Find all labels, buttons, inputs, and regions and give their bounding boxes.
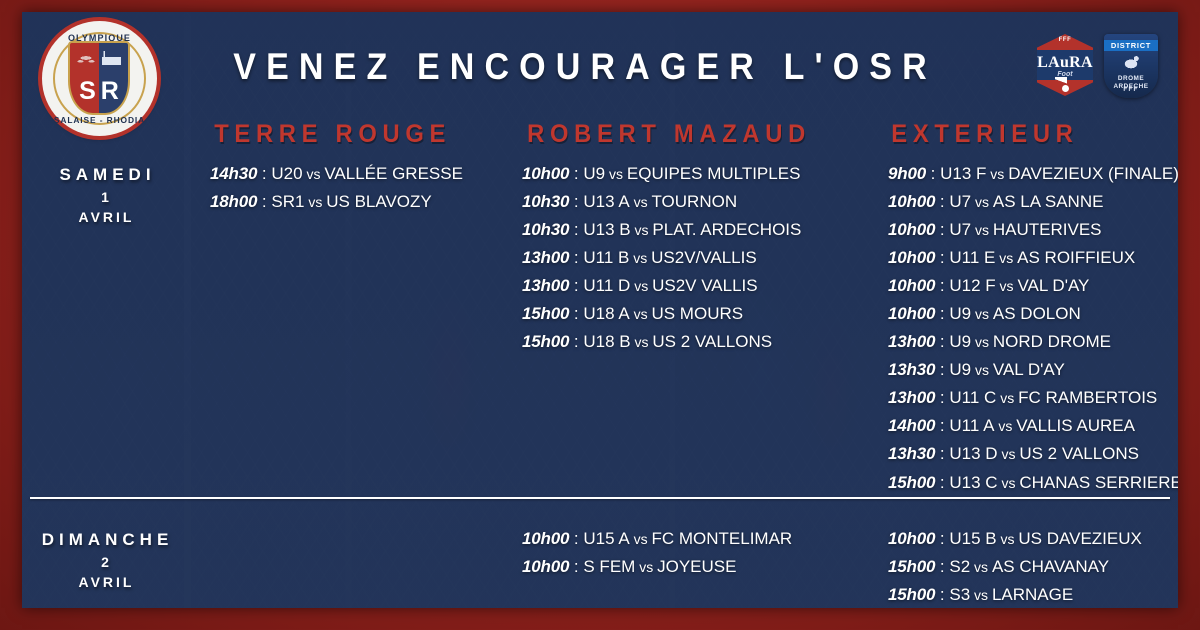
match-time: 13h30 [888, 444, 935, 463]
match-away-team: AS ROIFFIEUX [1017, 248, 1135, 267]
match-vs-label: vs [998, 446, 1020, 462]
match-time: 15h00 [888, 557, 935, 576]
day-number: 1 [30, 187, 180, 208]
match-away-team: VAL D'AY [993, 360, 1065, 379]
match-separator: : [569, 192, 583, 211]
match-vs-label: vs [630, 306, 652, 322]
match-time: 10h00 [888, 529, 935, 548]
match-separator: : [935, 360, 949, 379]
match-time: 10h30 [522, 192, 569, 211]
match-time: 13h00 [888, 388, 935, 407]
match-vs-label: vs [971, 222, 993, 238]
match-time: 13h00 [888, 332, 935, 351]
matches-dimanche-exterieur: 10h00 : U15 B vs US DAVEZIEUX15h00 : S2 … [840, 521, 1170, 608]
matches-dimanche-terre-rouge [180, 521, 510, 608]
venue-header-row: TERRE ROUGE ROBERT MAZAUD EXTERIEUR [22, 112, 1178, 156]
venue-title: ROBERT MAZAUD [510, 122, 824, 147]
match-time: 14h00 [888, 416, 935, 435]
club-crest-logo: OLYMPIQUE SR SALAISE - RHODIA [42, 21, 157, 136]
match-separator: : [257, 192, 271, 211]
district-band-text: DISTRICT [1104, 42, 1158, 50]
match-vs-label: vs [970, 587, 992, 603]
match-row: 15h00 : S3 vs LARNAGE [888, 581, 1170, 608]
poster-header: OLYMPIQUE SR SALAISE - RHODIA VENEZ ENCO… [22, 12, 1178, 112]
match-vs-label: vs [998, 475, 1020, 491]
rooster-icon [1120, 54, 1142, 72]
match-row: 15h00 : U13 C vs CHANAS SERRIERES [888, 469, 1170, 497]
match-separator: : [569, 220, 583, 239]
match-vs-label: vs [971, 362, 993, 378]
match-row: 10h00 : U9 vs AS DOLON [888, 300, 1170, 328]
match-separator: : [935, 276, 949, 295]
district-logo: DISTRICT DROME ARDECHE FFF [1104, 34, 1158, 98]
crest-club-name-bottom: SALAISE - RHODIA [42, 116, 157, 124]
match-vs-label: vs [995, 250, 1017, 266]
match-time: 10h00 [888, 304, 935, 323]
match-time: 14h30 [210, 164, 257, 183]
match-time: 15h00 [522, 304, 569, 323]
match-away-team: AS LA SANNE [993, 192, 1104, 211]
day-label-samedi: SAMEDI 1 AVRIL [30, 156, 180, 497]
match-away-team: PLAT. ARDECHOIS [652, 220, 801, 239]
match-vs-label: vs [304, 194, 326, 210]
match-row: 14h00 : U11 A vs VALLIS AUREA [888, 412, 1170, 440]
crest-factory-icon [102, 51, 121, 65]
day-month: AVRIL [30, 573, 180, 591]
match-time: 10h00 [888, 192, 935, 211]
match-separator: : [569, 164, 583, 183]
match-away-team: US DAVEZIEUX [1018, 529, 1141, 548]
match-home-team: U13 B [583, 220, 630, 239]
laura-fff-text: FFF [1037, 37, 1093, 43]
match-home-team: U13 C [949, 473, 997, 492]
match-time: 10h00 [522, 164, 569, 183]
laura-name-text: LAuRA [1037, 55, 1093, 71]
match-vs-label: vs [630, 278, 652, 294]
crest-bird-icon [76, 52, 96, 64]
match-home-team: U12 F [949, 276, 995, 295]
match-away-team: CHANAS SERRIERES [1019, 473, 1178, 492]
crest-initials: SR [70, 79, 128, 104]
match-separator: : [935, 416, 949, 435]
match-vs-label: vs [635, 559, 657, 575]
match-separator: : [935, 332, 949, 351]
match-time: 10h00 [888, 248, 935, 267]
match-separator: : [935, 529, 949, 548]
match-separator: : [569, 529, 583, 548]
match-vs-label: vs [631, 334, 653, 350]
match-vs-label: vs [303, 166, 325, 182]
match-home-team: S2 [949, 557, 970, 576]
match-home-team: SR1 [271, 192, 304, 211]
match-time: 9h00 [888, 164, 926, 183]
match-vs-label: vs [996, 278, 1018, 294]
match-vs-label: vs [971, 334, 993, 350]
venue-title: EXTERIEUR [840, 122, 1154, 147]
match-separator: : [935, 444, 949, 463]
match-separator: : [569, 304, 583, 323]
match-home-team: U7 [949, 220, 971, 239]
match-home-team: U15 A [583, 529, 629, 548]
match-away-team: VAL D'AY [1017, 276, 1089, 295]
match-separator: : [935, 557, 949, 576]
match-row: 13h00 : U11 B vs US2V/VALLIS [522, 244, 840, 272]
match-row: 13h30 : U13 D vs US 2 VALLONS [888, 440, 1170, 468]
match-away-team: HAUTERIVES [993, 220, 1102, 239]
match-away-team: FC MONTELIMAR [651, 529, 792, 548]
match-vs-label: vs [997, 531, 1019, 547]
match-vs-label: vs [986, 166, 1008, 182]
match-row: 18h00 : SR1 vs US BLAVOZY [210, 188, 510, 216]
match-row: 13h30 : U9 vs VAL D'AY [888, 356, 1170, 384]
match-vs-label: vs [605, 166, 627, 182]
match-home-team: U13 A [583, 192, 629, 211]
match-home-team: U9 [949, 332, 971, 351]
match-vs-label: vs [996, 390, 1018, 406]
poster: OLYMPIQUE SR SALAISE - RHODIA VENEZ ENCO… [0, 0, 1200, 630]
match-separator: : [257, 164, 271, 183]
venue-header-robert-mazaud: ROBERT MAZAUD [510, 122, 840, 147]
matches-samedi-exterieur: 9h00 : U13 F vs DAVEZIEUX (FINALE)10h00 … [840, 156, 1170, 497]
match-row: 13h00 : U11 C vs FC RAMBERTOIS [888, 384, 1170, 412]
match-away-team: LARNAGE [992, 585, 1073, 604]
match-row: 10h30 : U13 B vs PLAT. ARDECHOIS [522, 216, 840, 244]
match-home-team: U18 B [583, 332, 630, 351]
venue-header-terre-rouge: TERRE ROUGE [180, 122, 510, 147]
day-label-dimanche: DIMANCHE 2 AVRIL [30, 521, 180, 608]
match-row: 10h00 : U12 F vs VAL D'AY [888, 272, 1170, 300]
match-home-team: U11 E [949, 248, 995, 267]
match-separator: : [935, 585, 949, 604]
match-home-team: U20 [271, 164, 302, 183]
match-home-team: U18 A [583, 304, 629, 323]
matches-samedi-robert-mazaud: 10h00 : U9 vs EQUIPES MULTIPLES10h30 : U… [510, 156, 840, 497]
match-separator: : [935, 192, 949, 211]
day-block-samedi: SAMEDI 1 AVRIL 14h30 : U20 vs VALLÉE GRE… [22, 156, 1178, 497]
match-home-team: U11 D [583, 276, 630, 295]
match-home-team: U9 [583, 164, 605, 183]
match-vs-label: vs [630, 531, 652, 547]
match-home-team: U13 D [949, 444, 997, 463]
match-away-team: VALLÉE GRESSE [324, 164, 463, 183]
match-vs-label: vs [970, 559, 992, 575]
match-vs-label: vs [629, 250, 651, 266]
match-vs-label: vs [971, 306, 993, 322]
match-row: 10h30 : U13 A vs TOURNON [522, 188, 840, 216]
laura-foot-logo: FFF LAuRA Foot [1037, 34, 1093, 96]
match-row: 15h00 : S2 vs AS CHAVANAY [888, 553, 1170, 581]
district-fff-text: FFF [1104, 87, 1158, 93]
match-separator: : [569, 557, 583, 576]
day-name: SAMEDI [30, 164, 180, 187]
match-away-team: US 2 VALLONS [1019, 444, 1139, 463]
match-home-team: S FEM [583, 557, 635, 576]
match-home-team: U9 [949, 360, 971, 379]
page-title: VENEZ ENCOURAGER L'OSR [205, 48, 956, 85]
crest-shield: SR [68, 41, 130, 115]
match-away-team: TOURNON [651, 192, 737, 211]
match-time: 18h00 [210, 192, 257, 211]
match-separator: : [935, 304, 949, 323]
match-home-team: U13 F [940, 164, 986, 183]
match-time: 13h00 [522, 248, 569, 267]
match-away-team: US BLAVOZY [326, 192, 432, 211]
match-separator: : [935, 473, 949, 492]
match-home-team: U11 C [949, 388, 996, 407]
poster-panel: OLYMPIQUE SR SALAISE - RHODIA VENEZ ENCO… [22, 12, 1178, 608]
match-separator: : [569, 248, 583, 267]
match-vs-label: vs [631, 222, 653, 238]
match-time: 13h00 [522, 276, 569, 295]
match-row: 10h00 : U11 E vs AS ROIFFIEUX [888, 244, 1170, 272]
match-row: 10h00 : U7 vs AS LA SANNE [888, 188, 1170, 216]
match-time: 10h00 [522, 529, 569, 548]
match-vs-label: vs [630, 194, 652, 210]
match-home-team: U9 [949, 304, 971, 323]
match-time: 10h00 [522, 557, 569, 576]
match-separator: : [569, 332, 583, 351]
match-time: 10h30 [522, 220, 569, 239]
match-separator: : [935, 220, 949, 239]
match-time: 15h00 [888, 473, 935, 492]
match-separator: : [926, 164, 940, 183]
match-away-team: US MOURS [651, 304, 743, 323]
federation-logos: FFF LAuRA Foot DISTRICT DROME ARDECHE FF… [1037, 34, 1158, 98]
day-number: 2 [30, 552, 180, 573]
match-separator: : [935, 388, 949, 407]
match-separator: : [569, 276, 583, 295]
day-month: AVRIL [30, 208, 180, 226]
match-away-team: EQUIPES MULTIPLES [627, 164, 801, 183]
match-row: 10h00 : U15 B vs US DAVEZIEUX [888, 525, 1170, 553]
day-divider [30, 497, 1170, 499]
match-time: 15h00 [522, 332, 569, 351]
day-block-dimanche: DIMANCHE 2 AVRIL 10h00 : U15 A vs FC MON… [22, 507, 1178, 608]
matches-samedi-terre-rouge: 14h30 : U20 vs VALLÉE GRESSE18h00 : SR1 … [180, 156, 510, 497]
match-home-team: U7 [949, 192, 971, 211]
match-home-team: U11 A [949, 416, 994, 435]
venue-title: TERRE ROUGE [180, 122, 494, 147]
match-away-team: VALLIS AUREA [1016, 416, 1135, 435]
match-away-team: US 2 VALLONS [652, 332, 772, 351]
match-row: 9h00 : U13 F vs DAVEZIEUX (FINALE) [888, 160, 1170, 188]
match-row: 14h30 : U20 vs VALLÉE GRESSE [210, 160, 510, 188]
match-vs-label: vs [994, 418, 1016, 434]
match-away-team: NORD DROME [993, 332, 1111, 351]
match-away-team: JOYEUSE [657, 557, 736, 576]
match-row: 10h00 : U9 vs EQUIPES MULTIPLES [522, 160, 840, 188]
match-away-team: DAVEZIEUX (FINALE) [1008, 164, 1178, 183]
match-away-team: AS CHAVANAY [992, 557, 1109, 576]
laura-ball-icon [1062, 85, 1069, 92]
match-row: 13h00 : U9 vs NORD DROME [888, 328, 1170, 356]
match-separator: : [935, 248, 949, 267]
match-time: 15h00 [888, 585, 935, 604]
match-row: 15h00 : U18 B vs US 2 VALLONS [522, 328, 840, 356]
match-home-team: S3 [949, 585, 970, 604]
match-row: 13h00 : U11 D vs US2V VALLIS [522, 272, 840, 300]
match-away-team: FC RAMBERTOIS [1018, 388, 1157, 407]
match-time: 10h00 [888, 220, 935, 239]
poster-content: OLYMPIQUE SR SALAISE - RHODIA VENEZ ENCO… [22, 12, 1178, 608]
match-home-team: U15 B [949, 529, 996, 548]
match-row: 15h00 : U18 A vs US MOURS [522, 300, 840, 328]
match-home-team: U11 B [583, 248, 629, 267]
match-away-team: AS DOLON [993, 304, 1081, 323]
match-row: 10h00 : S FEM vs JOYEUSE [522, 553, 840, 581]
match-away-team: US2V/VALLIS [651, 248, 757, 267]
match-row: 10h00 : U7 vs HAUTERIVES [888, 216, 1170, 244]
match-time: 10h00 [888, 276, 935, 295]
matches-dimanche-robert-mazaud: 10h00 : U15 A vs FC MONTELIMAR10h00 : S … [510, 521, 840, 608]
match-vs-label: vs [971, 194, 993, 210]
match-time: 13h30 [888, 360, 935, 379]
day-name: DIMANCHE [30, 529, 180, 552]
match-row: 10h00 : U15 A vs FC MONTELIMAR [522, 525, 840, 553]
venue-header-exterieur: EXTERIEUR [840, 122, 1170, 147]
match-away-team: US2V VALLIS [652, 276, 758, 295]
